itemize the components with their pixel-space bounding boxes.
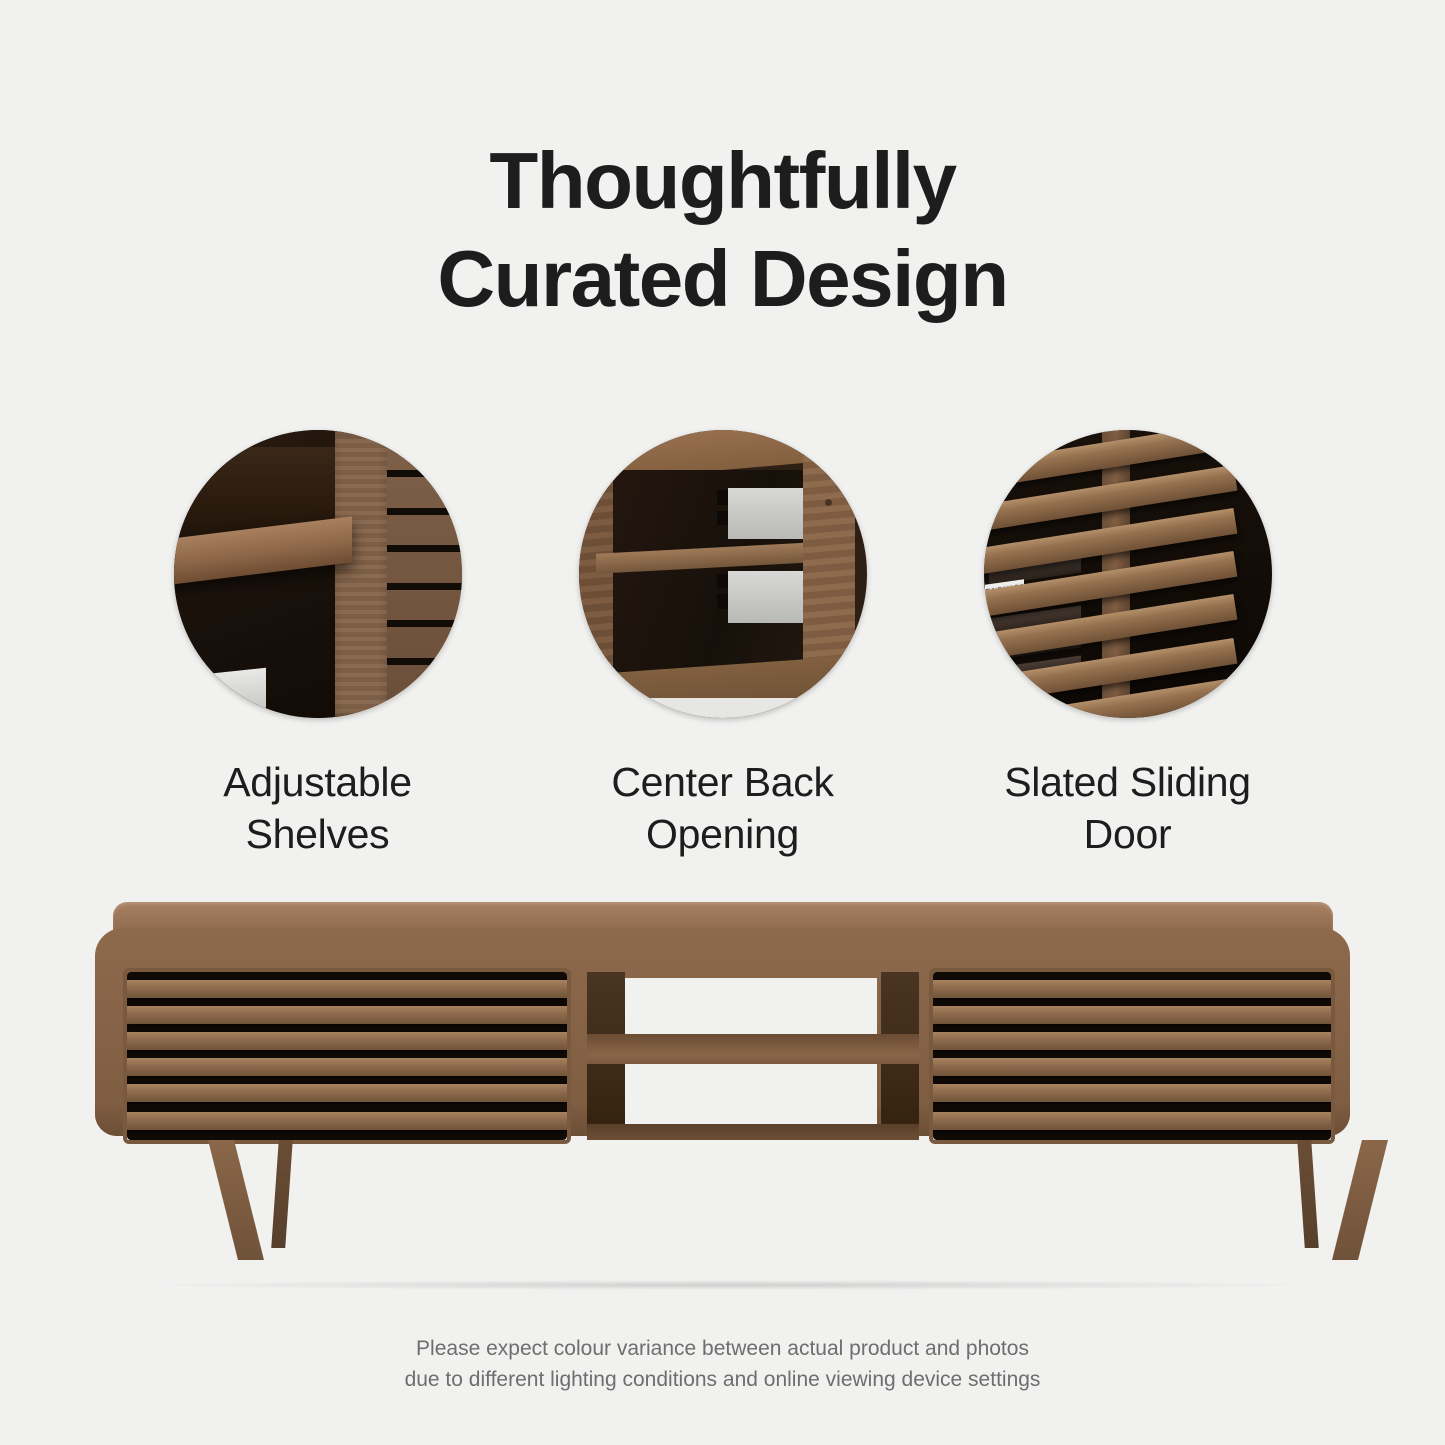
screw-head (825, 499, 832, 506)
feature-label-adjustable-shelves: Adjustable Shelves (223, 756, 411, 860)
center-open-bay (587, 972, 919, 1140)
floor-shadow (140, 1280, 1320, 1290)
disclaimer: Please expect colour variance between ac… (0, 1333, 1445, 1395)
page-title-line-2: Curated Design (0, 230, 1445, 328)
feature-label-center-back-opening: Center Back Opening (611, 756, 833, 860)
feature-item-adjustable-shelves: Adjustable Shelves (173, 430, 463, 860)
leg-back-right (1297, 1140, 1319, 1248)
cable-notch (717, 490, 729, 504)
bay-bottom-board (587, 1124, 919, 1140)
bay-opening-lower (625, 1064, 877, 1124)
feature-image-center-back-opening (579, 430, 867, 718)
page-title-line-1: Thoughtfully (0, 132, 1445, 230)
disclaimer-line-2: due to different lighting conditions and… (0, 1364, 1445, 1395)
tv-stand-cabinet (95, 902, 1350, 1152)
disclaimer-line-1: Please expect colour variance between ac… (0, 1333, 1445, 1364)
feature-label-slated-sliding-door: Slated Sliding Door (1004, 756, 1251, 860)
back-panel-cutout-upper (728, 488, 814, 540)
feature-label-line-1: Adjustable (223, 759, 411, 805)
bay-opening-upper (625, 978, 877, 1036)
back-panel-cutout-lower (728, 571, 814, 623)
floor-strip (579, 698, 867, 718)
feature-item-slated-sliding-door: FASHION ON Slated Sliding Door (983, 430, 1273, 860)
cable-notch (717, 511, 729, 525)
book-in-shelf (185, 668, 266, 717)
feature-label-line-2: Opening (646, 811, 799, 857)
leg-front-left (208, 1140, 264, 1260)
page-title: Thoughtfully Curated Design (0, 132, 1445, 328)
sliding-door-right (933, 972, 1331, 1140)
cable-notch (717, 594, 729, 608)
feature-label-line-1: Slated Sliding (1004, 759, 1251, 805)
feature-image-adjustable-shelves (174, 430, 462, 718)
adjustable-shelves-photo (174, 430, 462, 718)
slat-column (387, 430, 462, 718)
center-back-opening-photo (579, 430, 867, 718)
sliding-door-left (127, 972, 567, 1140)
bay-middle-shelf (587, 1034, 919, 1064)
feature-label-line-2: Door (1084, 811, 1172, 857)
feature-label-line-1: Center Back (611, 759, 833, 805)
leg-back-left (271, 1140, 293, 1248)
feature-image-slated-sliding-door: FASHION ON (984, 430, 1272, 718)
slated-sliding-door-photo: FASHION ON (984, 430, 1272, 718)
feature-list: Adjustable Shelves (0, 430, 1445, 860)
cable-notch (717, 574, 729, 588)
feature-label-line-2: Shelves (246, 811, 390, 857)
leg-front-right (1332, 1140, 1388, 1260)
cabinet-body (95, 928, 1350, 1136)
product-photo (0, 888, 1445, 1298)
feature-item-center-back-opening: Center Back Opening (578, 430, 868, 860)
door-slats (984, 430, 1272, 718)
